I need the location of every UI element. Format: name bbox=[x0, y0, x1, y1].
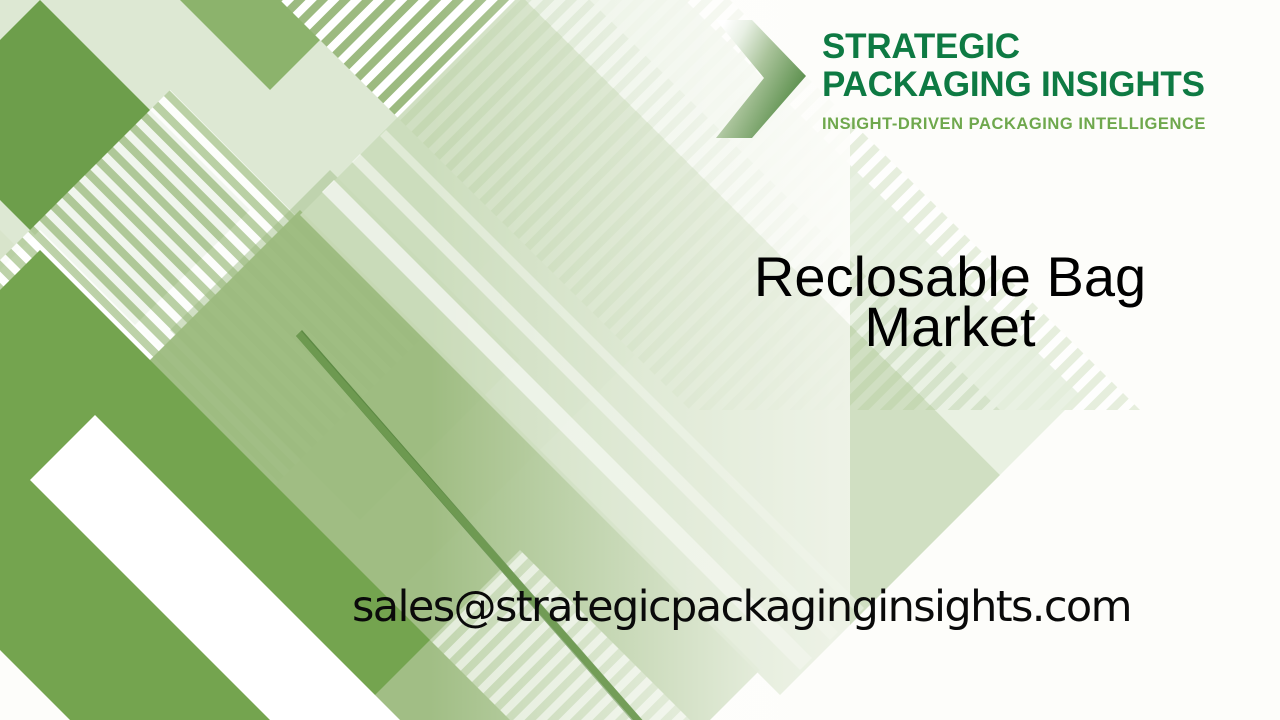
logo-line-2: PACKAGING INSIGHTS bbox=[822, 66, 1206, 104]
page-title: Reclosable Bag Market bbox=[600, 252, 1280, 352]
pale-diamond bbox=[0, 0, 520, 490]
band-group-downleft bbox=[0, 0, 700, 650]
chevron-arrow-mark-icon bbox=[706, 14, 814, 146]
logo-wordmark: STRATEGIC PACKAGING INSIGHTS INSIGHT-DRI… bbox=[822, 14, 1206, 134]
dark-green-block-top bbox=[0, 0, 250, 330]
stripe-crossing-overlap bbox=[170, 170, 520, 520]
logo-line-1: STRATEGIC bbox=[822, 28, 1206, 66]
slide-canvas: STRATEGIC PACKAGING INSIGHTS INSIGHT-DRI… bbox=[0, 0, 1280, 720]
top-triangle bbox=[140, 0, 400, 90]
stripes-lower-sliver bbox=[430, 550, 700, 720]
logo-tagline: INSIGHT-DRIVEN PACKAGING INTELLIGENCE bbox=[822, 115, 1206, 134]
band-dark-downright bbox=[0, 250, 430, 720]
band-separator-white bbox=[30, 415, 500, 720]
company-logo: STRATEGIC PACKAGING INSIGHTS INSIGHT-DRI… bbox=[706, 14, 1226, 146]
contact-email[interactable]: sales@strategicpackaginginsights.com bbox=[352, 582, 1131, 632]
accent-line-green bbox=[296, 330, 646, 720]
